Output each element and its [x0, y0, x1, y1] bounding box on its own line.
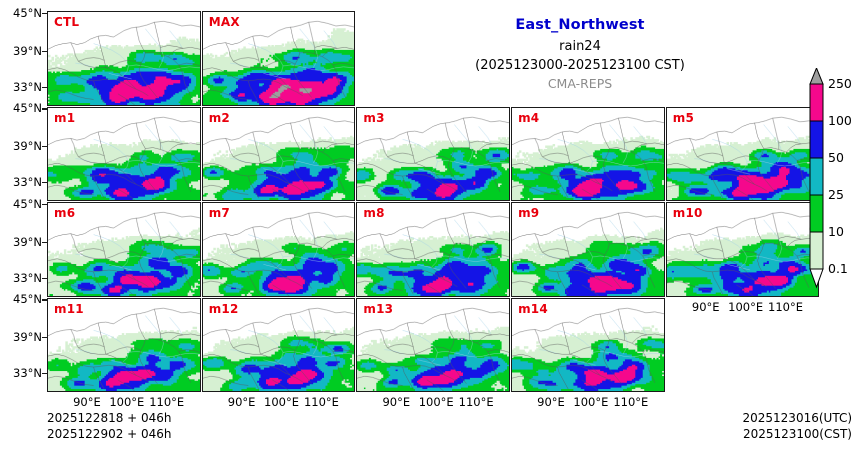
variable-title: rain24: [380, 40, 780, 53]
footer-left: 2025122818 + 046h2025122902 + 046h: [47, 411, 172, 443]
panel-label: m3: [363, 111, 384, 125]
map-panel-m14[interactable]: m14: [511, 298, 665, 393]
period-title: (2025123000-2025123100 CST): [380, 59, 780, 72]
map-panel-m13[interactable]: m13: [356, 298, 510, 393]
y-axis-label: 33°N: [0, 366, 42, 380]
footer-valid-cst: 2025123100(CST): [743, 427, 852, 441]
y-axis-label: 45°N: [0, 292, 42, 306]
y-axis-label: 39°N: [0, 139, 42, 153]
y-axis-label: 39°N: [0, 330, 42, 344]
footer-right: 2025123016(UTC)2025123100(CST): [743, 411, 853, 443]
x-axis-label: 110°E: [606, 395, 656, 409]
colorbar-tick-label: 100: [828, 113, 852, 128]
colorbar-under-arrow: [810, 269, 823, 287]
footer-init-line1: 2025122818 + 046h: [47, 411, 172, 425]
map-panel-m10[interactable]: m10: [666, 202, 820, 297]
x-axis-label: 110°E: [142, 395, 192, 409]
model-title: CMA-REPS: [380, 78, 780, 91]
map-panel-m5[interactable]: m5: [666, 107, 820, 202]
panel-label: m6: [54, 206, 75, 220]
map-panel-m2[interactable]: m2: [202, 107, 356, 202]
colorbar-tick-label: 10: [828, 224, 844, 239]
y-axis-tick: [42, 182, 47, 183]
panel-label: m8: [363, 206, 384, 220]
map-panel-m12[interactable]: m12: [202, 298, 356, 393]
panel-label: CTL: [54, 15, 79, 29]
colorbar-tick-label: 25: [828, 187, 844, 202]
y-axis-tick: [42, 108, 47, 109]
panel-label: m2: [209, 111, 230, 125]
y-axis-label: 45°N: [0, 197, 42, 211]
y-axis-label: 45°N: [0, 6, 42, 20]
map-panel-m8[interactable]: m8: [356, 202, 510, 297]
y-axis-tick: [42, 87, 47, 88]
colorbar-band: [810, 158, 823, 195]
colorbar-tick-label: 250: [828, 76, 852, 91]
panel-label: MAX: [209, 15, 240, 29]
y-axis-tick: [42, 13, 47, 14]
y-axis-label: 39°N: [0, 44, 42, 58]
y-axis-label: 33°N: [0, 271, 42, 285]
x-axis-label: 110°E: [761, 300, 811, 314]
map-panel-m11[interactable]: m11: [47, 298, 201, 393]
map-panel-max[interactable]: MAX: [202, 11, 356, 106]
panel-label: m1: [54, 111, 75, 125]
region-title: East_Northwest: [380, 18, 780, 33]
colorbar-band: [810, 84, 823, 121]
map-panel-m7[interactable]: m7: [202, 202, 356, 297]
panel-label: m13: [363, 302, 393, 316]
y-axis-tick: [42, 278, 47, 279]
footer-init-line2: 2025122902 + 046h: [47, 427, 172, 441]
map-panel-m9[interactable]: m9: [511, 202, 665, 297]
panel-label: m12: [209, 302, 239, 316]
colorbar-tick-label: 0.1: [828, 261, 848, 276]
y-axis-tick: [42, 146, 47, 147]
colorbar-band: [810, 195, 823, 232]
footer-valid-utc: 2025123016(UTC): [743, 411, 853, 425]
figure-root: East_Northwest rain24 (2025123000-202512…: [0, 0, 860, 452]
panel-label: m11: [54, 302, 84, 316]
colorbar-swatches: [800, 68, 830, 291]
y-axis-tick: [42, 299, 47, 300]
colorbar-band: [810, 121, 823, 158]
title-block: East_Northwest rain24 (2025123000-202512…: [380, 18, 780, 90]
map-panel-m3[interactable]: m3: [356, 107, 510, 202]
x-axis-label: 110°E: [296, 395, 346, 409]
colorbar: 2501005025100.1: [800, 68, 830, 291]
map-panel-ctl[interactable]: CTL: [47, 11, 201, 106]
panel-label: m14: [518, 302, 548, 316]
colorbar-over-arrow: [810, 68, 823, 84]
x-axis-label: 110°E: [451, 395, 501, 409]
y-axis-tick: [42, 242, 47, 243]
y-axis-tick: [42, 204, 47, 205]
map-panel-m4[interactable]: m4: [511, 107, 665, 202]
y-axis-tick: [42, 337, 47, 338]
y-axis-label: 39°N: [0, 235, 42, 249]
panel-label: m4: [518, 111, 539, 125]
colorbar-band: [810, 232, 823, 269]
y-axis-label: 45°N: [0, 101, 42, 115]
map-panel-m6[interactable]: m6: [47, 202, 201, 297]
panel-label: m7: [209, 206, 230, 220]
colorbar-tick-label: 50: [828, 150, 844, 165]
y-axis-label: 33°N: [0, 80, 42, 94]
panel-label: m9: [518, 206, 539, 220]
map-panel-m1[interactable]: m1: [47, 107, 201, 202]
y-axis-tick: [42, 51, 47, 52]
y-axis-tick: [42, 373, 47, 374]
panel-label: m5: [673, 111, 694, 125]
y-axis-label: 33°N: [0, 175, 42, 189]
panel-label: m10: [673, 206, 703, 220]
